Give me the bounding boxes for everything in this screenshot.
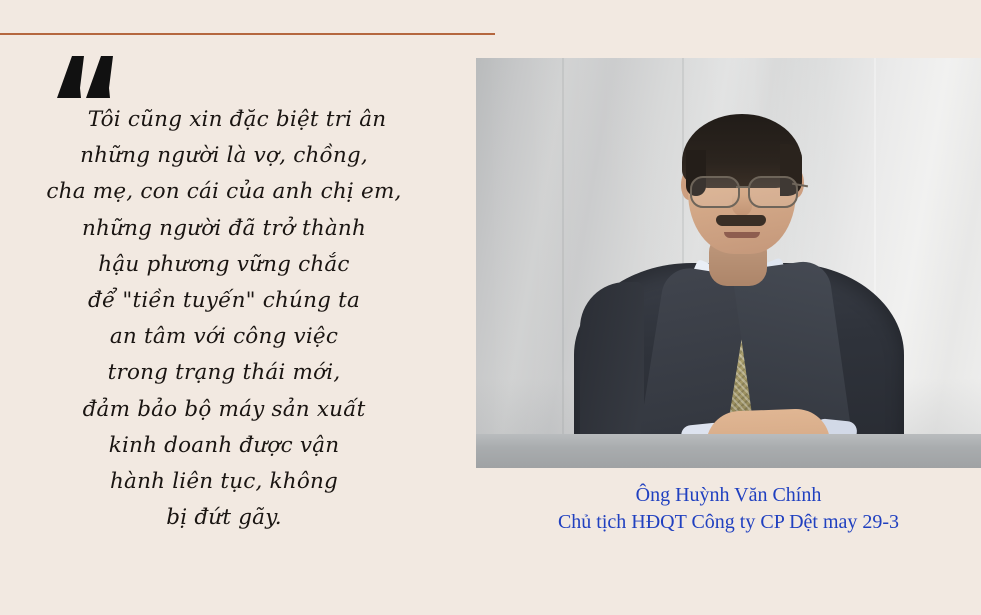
- quote-line: cha mẹ, con cái của anh chị em,: [0, 174, 448, 210]
- quote-line: hành liên tục, không: [0, 464, 448, 500]
- quote-line: hậu phương vững chắc: [0, 247, 448, 283]
- portrait-photo: [476, 58, 981, 468]
- quote-line: những người là vợ, chồng,: [0, 138, 448, 174]
- quote-line: an tâm với công việc: [0, 319, 448, 355]
- photo-caption: Ông Huỳnh Văn Chính Chủ tịch HĐQT Công t…: [476, 482, 981, 536]
- quote-line: bị đứt gãy.: [0, 500, 448, 536]
- quote-line: Tôi cũng xin đặc biệt tri ân: [0, 102, 448, 138]
- eyeglass-lens-left: [690, 176, 740, 208]
- quote-text: Tôi cũng xin đặc biệt tri ân những người…: [0, 102, 448, 536]
- portrait-subject: [476, 58, 981, 468]
- top-divider-rule: [0, 33, 495, 35]
- quote-line: kinh doanh được vận: [0, 428, 448, 464]
- double-quote-icon: [55, 54, 115, 100]
- mustache: [716, 215, 766, 226]
- desk-surface: [476, 434, 981, 468]
- article-quote-block: Tôi cũng xin đặc biệt tri ân những người…: [0, 0, 981, 615]
- quote-line: đảm bảo bộ máy sản xuất: [0, 392, 448, 428]
- mouth: [724, 232, 760, 238]
- eyeglass-bridge: [736, 186, 750, 188]
- quote-column: Tôi cũng xin đặc biệt tri ân những người…: [0, 50, 460, 550]
- eyeglass-lens-right: [748, 176, 798, 208]
- quote-line: để "tiền tuyến" chúng ta: [0, 283, 448, 319]
- quote-line: những người đã trở thành: [0, 211, 448, 247]
- eyeglasses-icon: [686, 176, 802, 206]
- quote-line: trong trạng thái mới,: [0, 355, 448, 391]
- caption-person-name: Ông Huỳnh Văn Chính: [476, 482, 981, 509]
- caption-person-role: Chủ tịch HĐQT Công ty CP Dệt may 29-3: [476, 509, 981, 536]
